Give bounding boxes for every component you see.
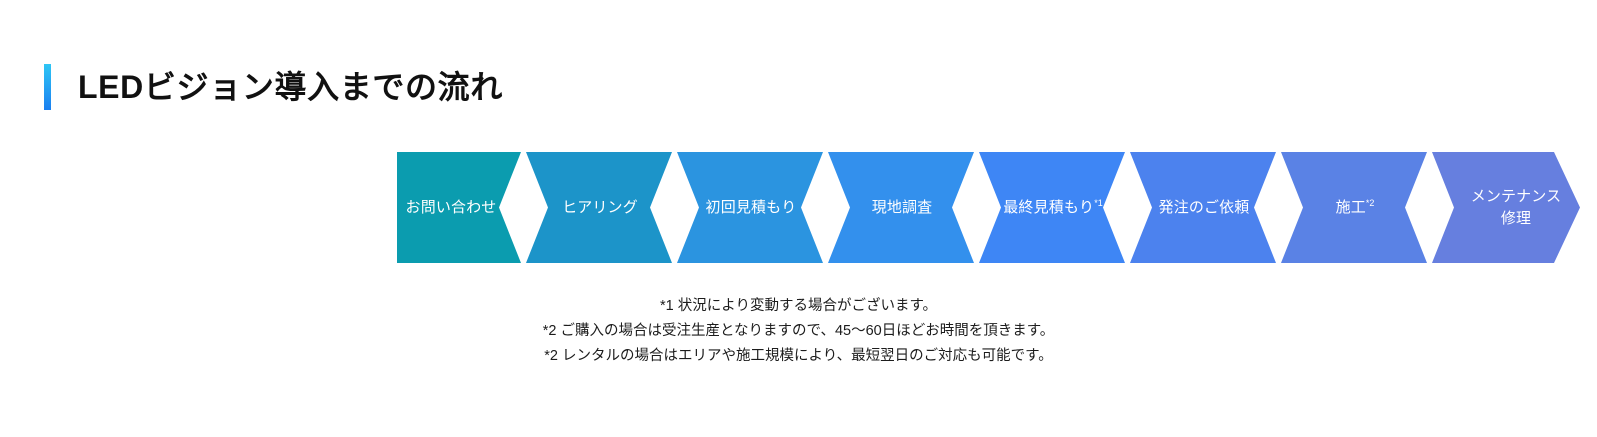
flow-step-label: 施工*2 xyxy=(1336,197,1375,219)
flow-step-5: 最終見積もり*1 xyxy=(979,152,1125,263)
page-title: LEDビジョン導入までの流れ xyxy=(78,71,503,103)
flow-step-label: 現地調査 xyxy=(872,197,933,219)
flow-step-2: ヒアリング xyxy=(526,152,672,263)
flow-step-label: メンテナンス 修理 xyxy=(1471,186,1562,230)
flow-step-3: 初回見積もり xyxy=(677,152,823,263)
footnote-1: *1 状況により変動する場合がございます。 xyxy=(0,294,1597,319)
flow-step-footnote-marker: *1 xyxy=(1094,198,1103,208)
flow-step-1: お問い合わせ xyxy=(397,152,521,263)
footnote-3: *2 レンタルの場合はエリアや施工規模により、最短翌日のご対応も可能です。 xyxy=(0,344,1597,369)
footnote-2: *2 ご購入の場合は受注生産となりますので、45〜60日ほどお時間を頂きます。 xyxy=(0,319,1597,344)
flow-step-label: ヒアリング xyxy=(562,197,638,219)
flow-step-footnote-marker: *2 xyxy=(1366,198,1375,208)
flow-step-6: 発注のご依頼 xyxy=(1130,152,1276,263)
flow-step-7: 施工*2 xyxy=(1281,152,1427,263)
flow-step-8: メンテナンス 修理 xyxy=(1432,152,1580,263)
flow-step-label: 最終見積もり*1 xyxy=(1003,197,1102,219)
process-flow: お問い合わせヒアリング初回見積もり現地調査最終見積もり*1発注のご依頼施工*2メ… xyxy=(397,152,1580,263)
flow-step-label: お問い合わせ xyxy=(406,197,497,219)
flow-step-4: 現地調査 xyxy=(828,152,974,263)
title-accent-bar xyxy=(44,64,51,110)
flow-step-label: 初回見積もり xyxy=(706,197,797,219)
page-header: LEDビジョン導入までの流れ xyxy=(44,50,503,125)
footnote-list: *1 状況により変動する場合がございます。*2 ご購入の場合は受注生産となります… xyxy=(0,294,1597,369)
flow-step-label: 発注のご依頼 xyxy=(1159,197,1250,219)
